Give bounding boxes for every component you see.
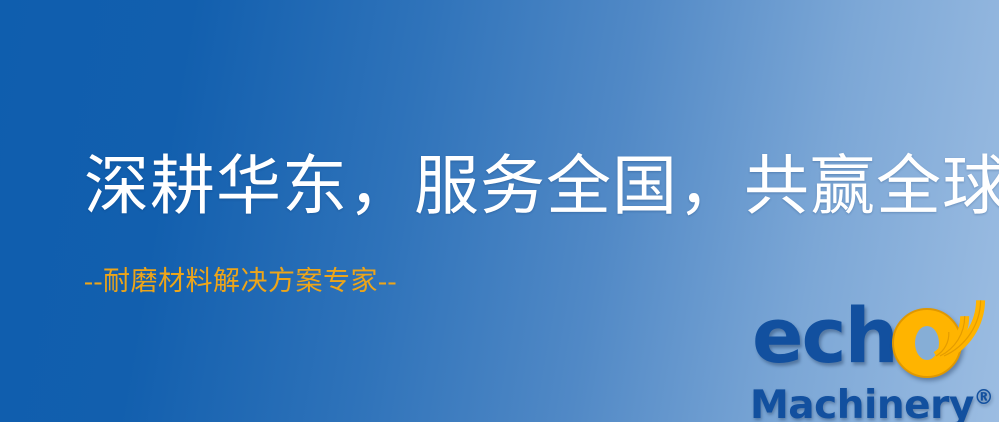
registered-trademark-icon: ® [974, 385, 994, 409]
banner-subtitle: --耐磨材料解决方案专家-- [84, 265, 397, 297]
logo-echo-text: ech [752, 298, 897, 374]
banner-headline: 深耕华东，服务全国，共赢全球 [84, 148, 954, 226]
promo-banner: 深耕华东，服务全国，共赢全球 --耐磨材料解决方案专家-- ech [0, 0, 999, 422]
signal-arcs-icon [930, 294, 999, 360]
logo-machinery-label: Machinery [750, 383, 974, 422]
logo-machinery-text: Machinery® [750, 376, 994, 422]
logo-wordmark: ech [748, 296, 999, 378]
echo-machinery-logo: ech Machinery® [748, 296, 999, 422]
